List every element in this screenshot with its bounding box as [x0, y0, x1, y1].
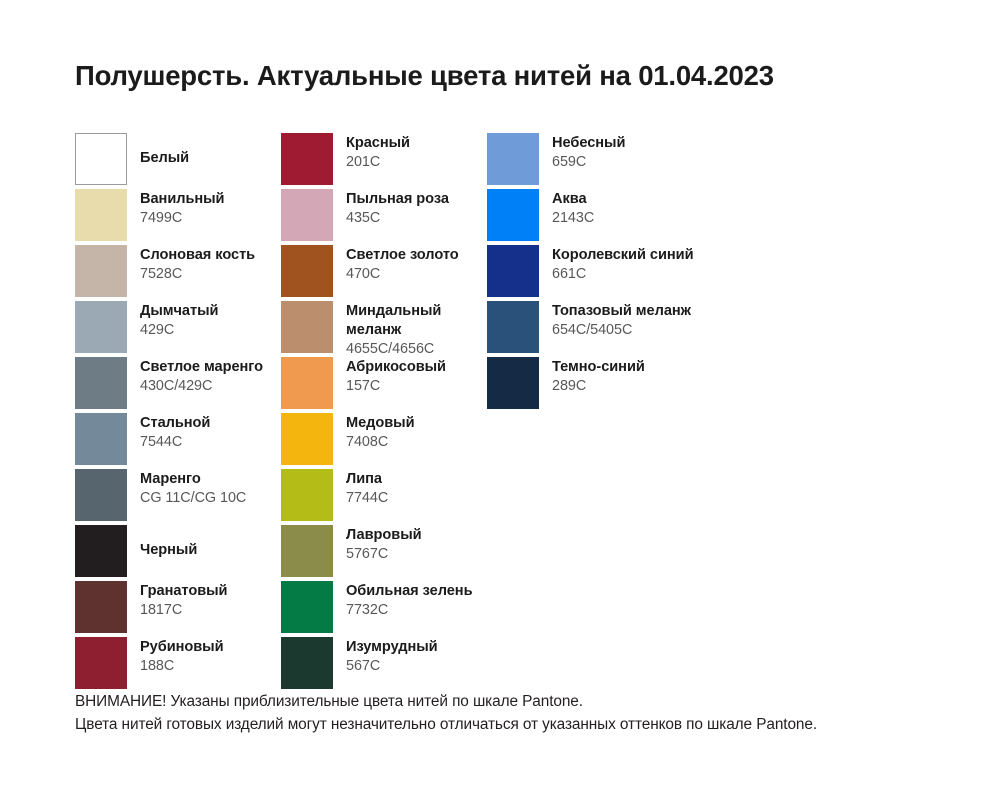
swatch-name: Изумрудный	[346, 638, 438, 657]
page-title: Полушерсть. Актуальные цвета нитей на 01…	[75, 60, 945, 92]
swatch-name: Топазовый меланж	[552, 302, 691, 321]
swatch-name: Дымчатый	[140, 302, 218, 321]
swatch-text: Светлое золото 470C	[346, 245, 459, 284]
swatch-text: Маренго CG 11C/CG 10C	[140, 469, 246, 508]
color-swatch[interactable]	[281, 301, 333, 353]
swatch-code: 659C	[552, 153, 625, 172]
swatch-name: Черный	[140, 541, 197, 560]
color-swatch[interactable]	[75, 581, 127, 633]
swatch-row[interactable]: Черный	[75, 525, 281, 577]
swatch-row[interactable]: Небесный 659C	[487, 133, 727, 185]
swatch-code: 157C	[346, 377, 446, 396]
swatch-code: 7528C	[140, 265, 255, 284]
swatch-row[interactable]: Медовый 7408C	[281, 413, 487, 465]
swatch-text: Гранатовый 1817C	[140, 581, 227, 620]
swatch-name: Белый	[140, 149, 189, 168]
color-swatch[interactable]	[75, 357, 127, 409]
color-swatch[interactable]	[75, 525, 127, 577]
swatch-code: 289C	[552, 377, 645, 396]
swatch-row[interactable]: Миндальный меланж 4655C/4656C	[281, 301, 487, 353]
swatch-row[interactable]: Белый	[75, 133, 281, 185]
swatch-code: 470C	[346, 265, 459, 284]
swatch-text: Обильная зелень 7732C	[346, 581, 473, 620]
swatch-name: Рубиновый	[140, 638, 224, 657]
color-swatch[interactable]	[75, 637, 127, 689]
swatch-row[interactable]: Липа 7744C	[281, 469, 487, 521]
footer-line-2: Цвета нитей готовых изделий могут незнач…	[75, 713, 955, 736]
swatch-name: Обильная зелень	[346, 582, 473, 601]
swatch-text: Липа 7744C	[346, 469, 388, 508]
swatch-text: Пыльная роза 435C	[346, 189, 449, 228]
swatch-row[interactable]: Аква 2143C	[487, 189, 727, 241]
color-swatch[interactable]	[75, 133, 127, 185]
swatch-text: Дымчатый 429C	[140, 301, 218, 340]
color-swatch[interactable]	[281, 357, 333, 409]
swatch-code: 7408C	[346, 433, 415, 452]
swatch-code: 2143C	[552, 209, 594, 228]
footer-note: ВНИМАНИЕ! Указаны приблизительные цвета …	[75, 690, 955, 736]
color-swatch[interactable]	[281, 133, 333, 185]
color-swatch[interactable]	[281, 413, 333, 465]
swatch-code: 435C	[346, 209, 449, 228]
swatch-row[interactable]: Обильная зелень 7732C	[281, 581, 487, 633]
swatch-text: Медовый 7408C	[346, 413, 415, 452]
swatch-text: Черный	[140, 525, 197, 560]
swatch-column-1: Белый Ванильный 7499C Слоновая кость 752…	[75, 133, 281, 693]
swatch-code: 201C	[346, 153, 410, 172]
swatch-row[interactable]: Маренго CG 11C/CG 10C	[75, 469, 281, 521]
swatch-name: Миндальный меланж	[346, 302, 441, 340]
swatch-column-2: Красный 201C Пыльная роза 435C Светлое з…	[281, 133, 487, 693]
swatch-name: Слоновая кость	[140, 246, 255, 265]
swatch-columns: Белый Ванильный 7499C Слоновая кость 752…	[75, 133, 945, 693]
swatch-code: 5767C	[346, 545, 422, 564]
swatch-text: Миндальный меланж 4655C/4656C	[346, 301, 441, 359]
swatch-code: 1817C	[140, 601, 227, 620]
swatch-name: Стальной	[140, 414, 210, 433]
swatch-row[interactable]: Пыльная роза 435C	[281, 189, 487, 241]
color-swatch[interactable]	[281, 245, 333, 297]
color-swatch[interactable]	[487, 133, 539, 185]
color-swatch[interactable]	[75, 301, 127, 353]
color-swatch[interactable]	[487, 245, 539, 297]
swatch-code: 661C	[552, 265, 694, 284]
swatch-name: Ванильный	[140, 190, 224, 209]
swatch-name: Светлое маренго	[140, 358, 263, 377]
color-swatch[interactable]	[75, 469, 127, 521]
color-swatch[interactable]	[281, 189, 333, 241]
swatch-name: Лавровый	[346, 526, 422, 545]
swatch-text: Стальной 7544C	[140, 413, 210, 452]
swatch-code: 429C	[140, 321, 218, 340]
swatch-code: 7499C	[140, 209, 224, 228]
color-swatch[interactable]	[281, 469, 333, 521]
swatch-row[interactable]: Красный 201C	[281, 133, 487, 185]
color-swatch[interactable]	[487, 357, 539, 409]
swatch-text: Светлое маренго 430C/429C	[140, 357, 263, 396]
swatch-code: 654C/5405C	[552, 321, 691, 340]
swatch-row[interactable]: Королевский синий 661C	[487, 245, 727, 297]
swatch-row[interactable]: Изумрудный 567C	[281, 637, 487, 689]
swatch-row[interactable]: Лавровый 5767C	[281, 525, 487, 577]
swatch-text: Топазовый меланж 654C/5405C	[552, 301, 691, 340]
swatch-code: 188C	[140, 657, 224, 676]
color-swatch[interactable]	[75, 189, 127, 241]
swatch-text: Слоновая кость 7528C	[140, 245, 255, 284]
color-chart-page: Полушерсть. Актуальные цвета нитей на 01…	[0, 0, 1000, 801]
swatch-text: Изумрудный 567C	[346, 637, 438, 676]
swatch-name: Аква	[552, 190, 594, 209]
swatch-code: 7744C	[346, 489, 388, 508]
swatch-text: Темно-синий 289C	[552, 357, 645, 396]
swatch-name: Абрикосовый	[346, 358, 446, 377]
swatch-name: Маренго	[140, 470, 246, 489]
swatch-code: 567C	[346, 657, 438, 676]
swatch-text: Королевский синий 661C	[552, 245, 694, 284]
swatch-name: Медовый	[346, 414, 415, 433]
color-swatch[interactable]	[75, 245, 127, 297]
swatch-name: Темно-синий	[552, 358, 645, 377]
swatch-name: Светлое золото	[346, 246, 459, 265]
swatch-text: Небесный 659C	[552, 133, 625, 172]
footer-line-1: ВНИМАНИЕ! Указаны приблизительные цвета …	[75, 690, 955, 713]
color-swatch[interactable]	[281, 525, 333, 577]
swatch-row[interactable]: Стальной 7544C	[75, 413, 281, 465]
swatch-text: Аква 2143C	[552, 189, 594, 228]
swatch-text: Абрикосовый 157C	[346, 357, 446, 396]
color-swatch[interactable]	[281, 637, 333, 689]
swatch-text: Рубиновый 188C	[140, 637, 224, 676]
swatch-row[interactable]: Темно-синий 289C	[487, 357, 727, 409]
color-swatch[interactable]	[487, 301, 539, 353]
swatch-name: Красный	[346, 134, 410, 153]
color-swatch[interactable]	[75, 413, 127, 465]
swatch-code: 7732C	[346, 601, 473, 620]
swatch-code: 430C/429C	[140, 377, 263, 396]
swatch-row[interactable]: Дымчатый 429C	[75, 301, 281, 353]
swatch-row[interactable]: Слоновая кость 7528C	[75, 245, 281, 297]
swatch-row[interactable]: Абрикосовый 157C	[281, 357, 487, 409]
color-swatch[interactable]	[281, 581, 333, 633]
swatch-name: Небесный	[552, 134, 625, 153]
swatch-row[interactable]: Светлое золото 470C	[281, 245, 487, 297]
swatch-name: Липа	[346, 470, 388, 489]
swatch-row[interactable]: Светлое маренго 430C/429C	[75, 357, 281, 409]
swatch-text: Ванильный 7499C	[140, 189, 224, 228]
swatch-code: CG 11C/CG 10C	[140, 489, 246, 508]
swatch-column-3: Небесный 659C Аква 2143C Королевский син…	[487, 133, 727, 413]
swatch-code: 7544C	[140, 433, 210, 452]
swatch-row[interactable]: Рубиновый 188C	[75, 637, 281, 689]
swatch-row[interactable]: Гранатовый 1817C	[75, 581, 281, 633]
swatch-name: Пыльная роза	[346, 190, 449, 209]
color-swatch[interactable]	[487, 189, 539, 241]
swatch-text: Красный 201C	[346, 133, 410, 172]
swatch-row[interactable]: Топазовый меланж 654C/5405C	[487, 301, 727, 353]
swatch-text: Лавровый 5767C	[346, 525, 422, 564]
swatch-row[interactable]: Ванильный 7499C	[75, 189, 281, 241]
swatch-name: Королевский синий	[552, 246, 694, 265]
swatch-name: Гранатовый	[140, 582, 227, 601]
swatch-text: Белый	[140, 133, 189, 168]
